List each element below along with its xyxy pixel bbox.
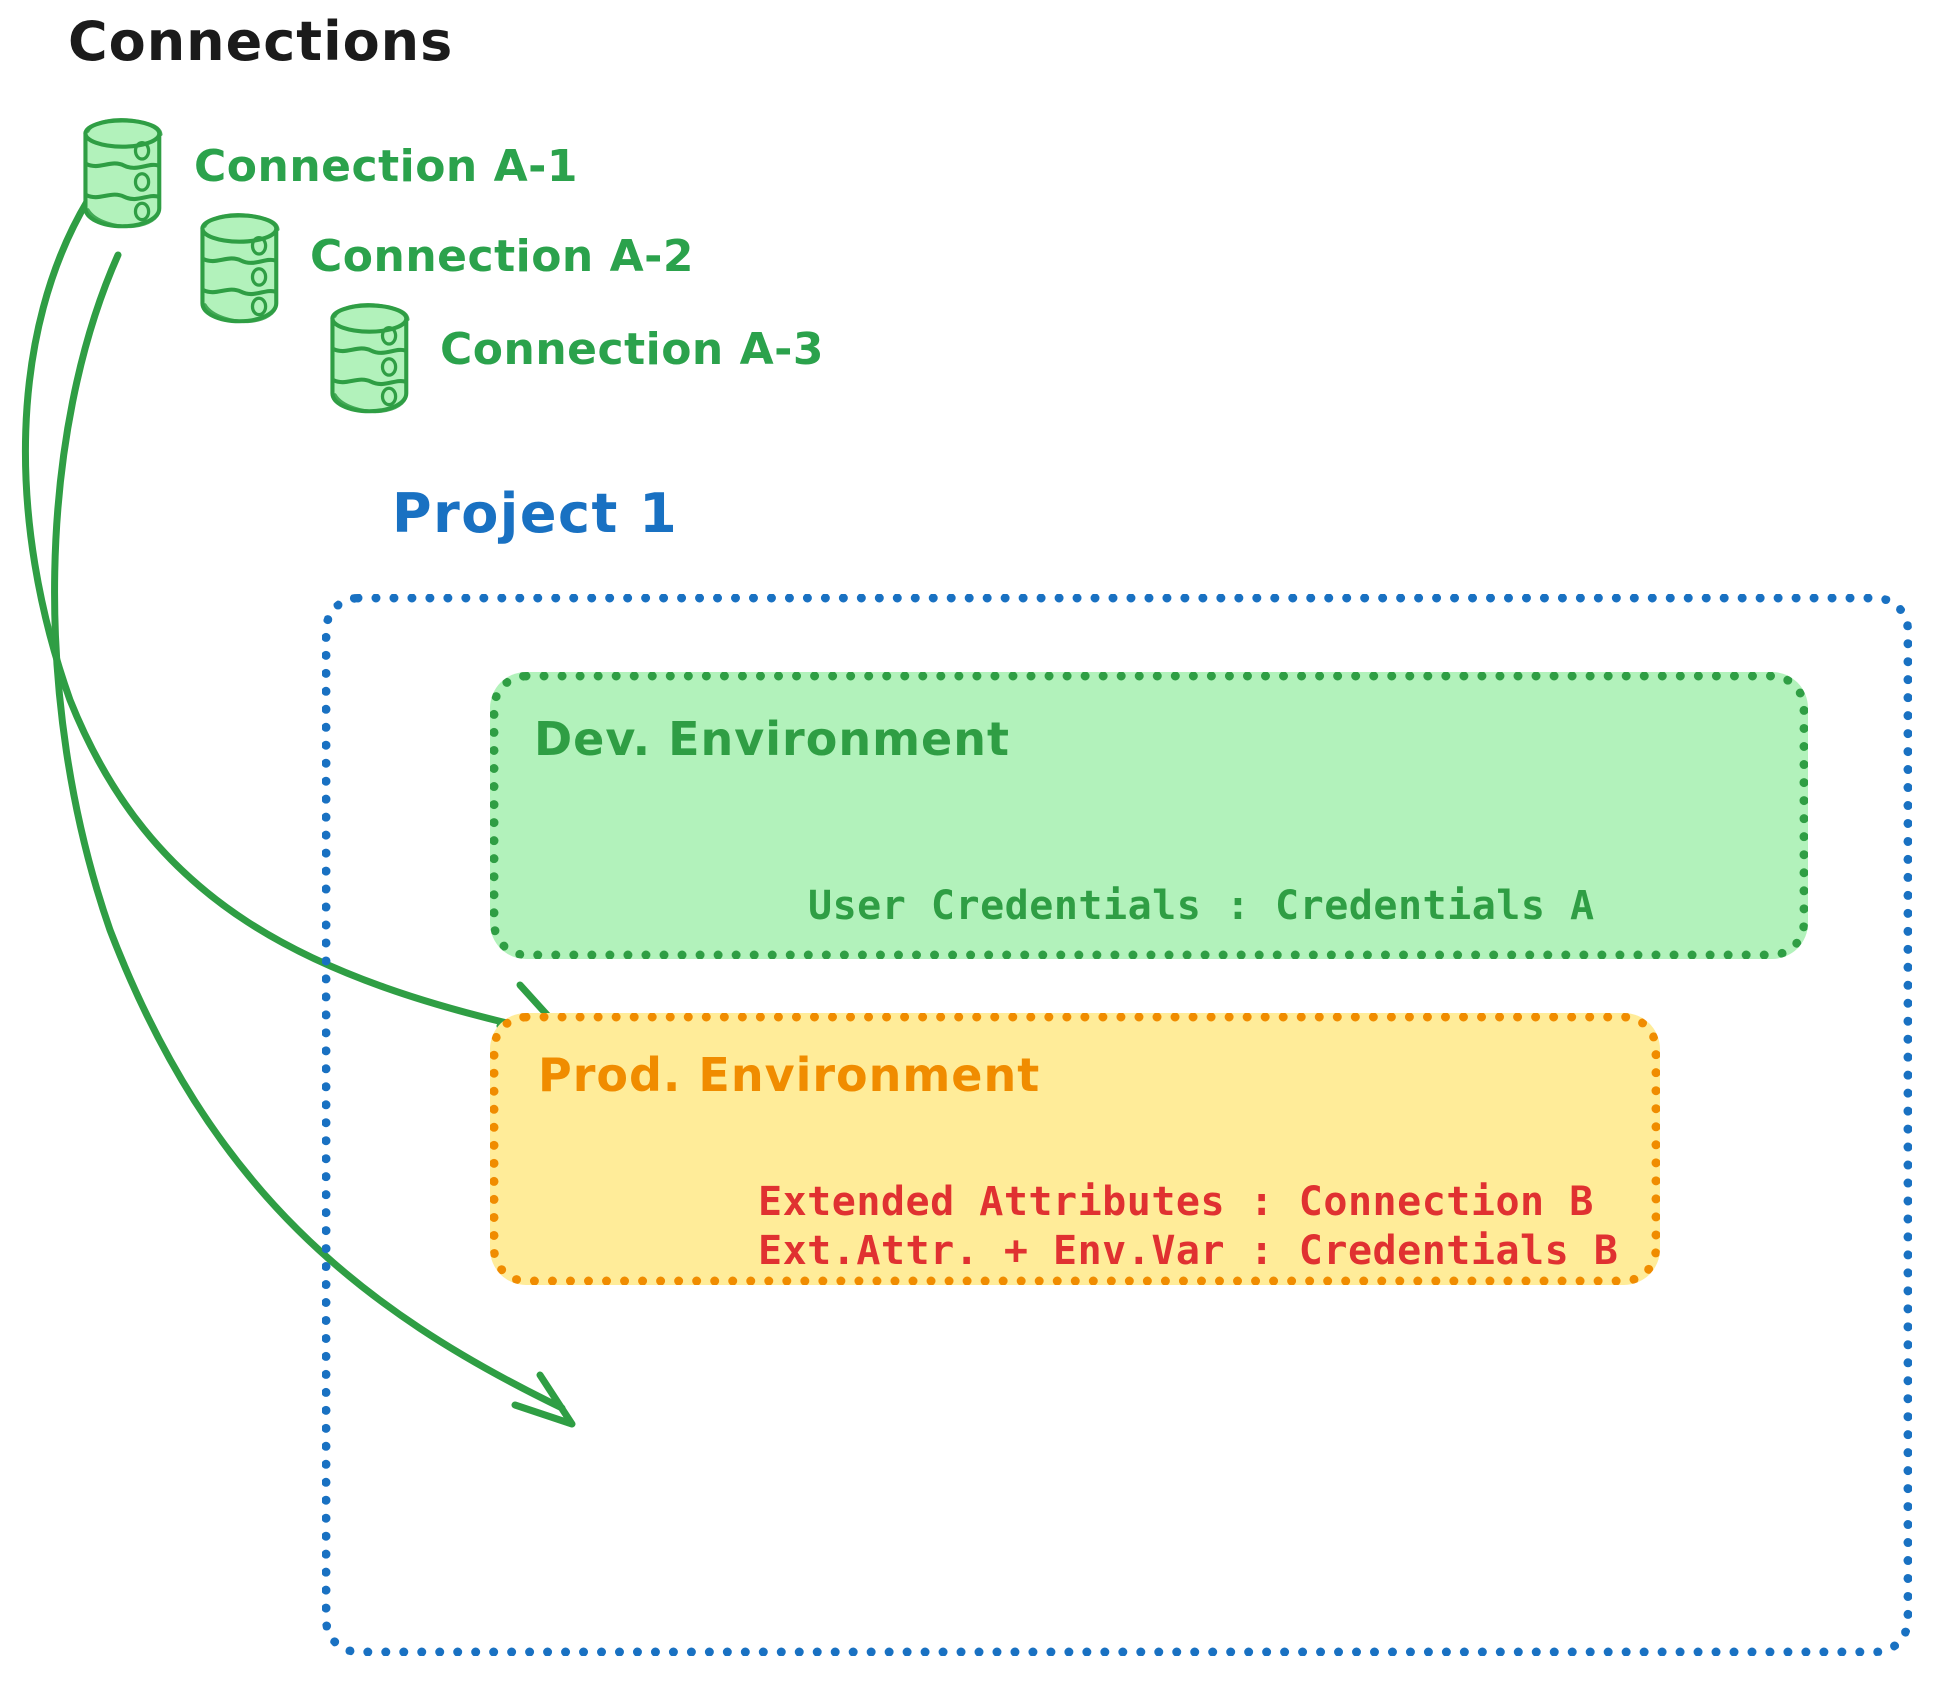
database-icon-connection-a-3[interactable] — [332, 305, 407, 412]
database-icon-connection-a-2[interactable] — [202, 215, 277, 322]
connection-label-a-1: Connection A-1 — [194, 142, 578, 191]
diagram-canvas: Connections Connection A-1 Connection A-… — [0, 0, 1938, 1691]
dev-environment-credentials-row: User Credentials : Credentials A — [808, 883, 1595, 929]
dev-environment-title: Dev. Environment — [534, 712, 1010, 766]
page-title: Connections — [68, 12, 453, 72]
prod-environment-title: Prod. Environment — [538, 1048, 1040, 1102]
prod-environment-rows: Extended Attributes : Connection B Ext.A… — [758, 1178, 1618, 1276]
project-title: Project 1 — [392, 484, 678, 544]
database-icon-connection-a-1[interactable] — [85, 120, 160, 227]
connection-label-a-2: Connection A-2 — [310, 232, 694, 281]
prod-environment-row-ext-attr-env-var: Ext.Attr. + Env.Var : Credentials B — [758, 1227, 1618, 1276]
prod-environment-row-extended-attributes: Extended Attributes : Connection B — [758, 1178, 1618, 1227]
connection-label-a-3: Connection A-3 — [440, 325, 824, 374]
